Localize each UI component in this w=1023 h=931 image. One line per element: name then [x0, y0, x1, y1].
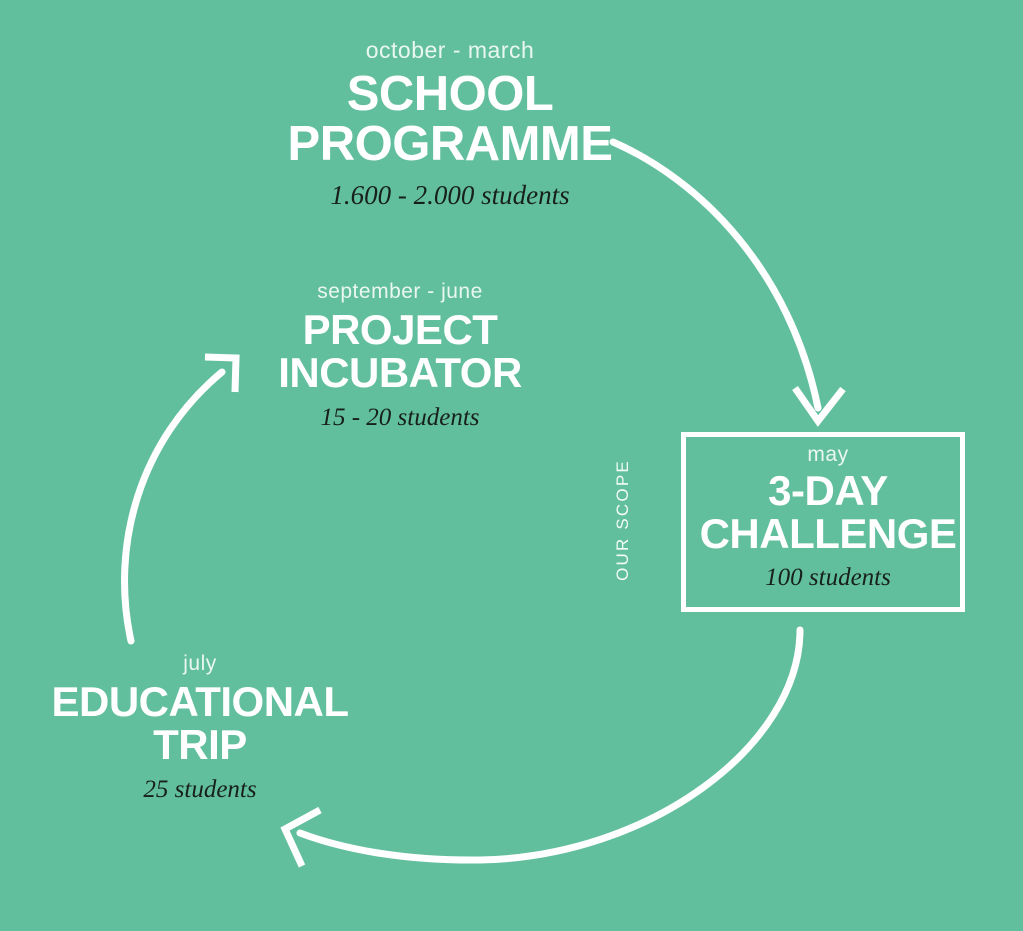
node-title-line2: PROGRAMME	[225, 120, 675, 170]
node-title-line2: TRIP	[0, 724, 415, 767]
node-count: 25 students	[0, 776, 415, 805]
node-period: may	[641, 443, 1015, 466]
diagram-canvas: october - march SCHOOL PROGRAMME 1.600 -…	[0, 0, 1023, 931]
node-period: september - june	[185, 280, 615, 303]
our-scope-label: OUR SCOPE	[612, 455, 634, 585]
node-title-line1: 3-DAY	[641, 470, 1015, 513]
node-count: 100 students	[641, 564, 1015, 593]
node-school-programme[interactable]: october - march SCHOOL PROGRAMME 1.600 -…	[225, 38, 675, 211]
node-count: 15 - 20 students	[185, 404, 615, 433]
node-challenge-content: may 3-DAY CHALLENGE 100 students	[641, 443, 1015, 593]
node-three-day-challenge[interactable]: may 3-DAY CHALLENGE 100 students	[681, 432, 965, 612]
node-title-line1: PROJECT	[185, 309, 615, 352]
node-title: SCHOOL PROGRAMME	[225, 70, 675, 170]
node-title-line1: EDUCATIONAL	[0, 681, 415, 724]
node-title: EDUCATIONAL TRIP	[0, 681, 415, 767]
node-title: 3-DAY CHALLENGE	[641, 470, 1015, 556]
node-title-line2: INCUBATOR	[185, 352, 615, 395]
node-title: PROJECT INCUBATOR	[185, 309, 615, 395]
node-title-line1: SCHOOL	[225, 70, 675, 120]
node-period: july	[0, 652, 415, 675]
node-educational-trip[interactable]: july EDUCATIONAL TRIP 25 students	[0, 652, 415, 805]
node-count: 1.600 - 2.000 students	[225, 180, 675, 211]
node-period: october - march	[225, 38, 675, 63]
node-project-incubator[interactable]: september - june PROJECT INCUBATOR 15 - …	[185, 280, 615, 433]
node-title-line2: CHALLENGE	[641, 513, 1015, 556]
